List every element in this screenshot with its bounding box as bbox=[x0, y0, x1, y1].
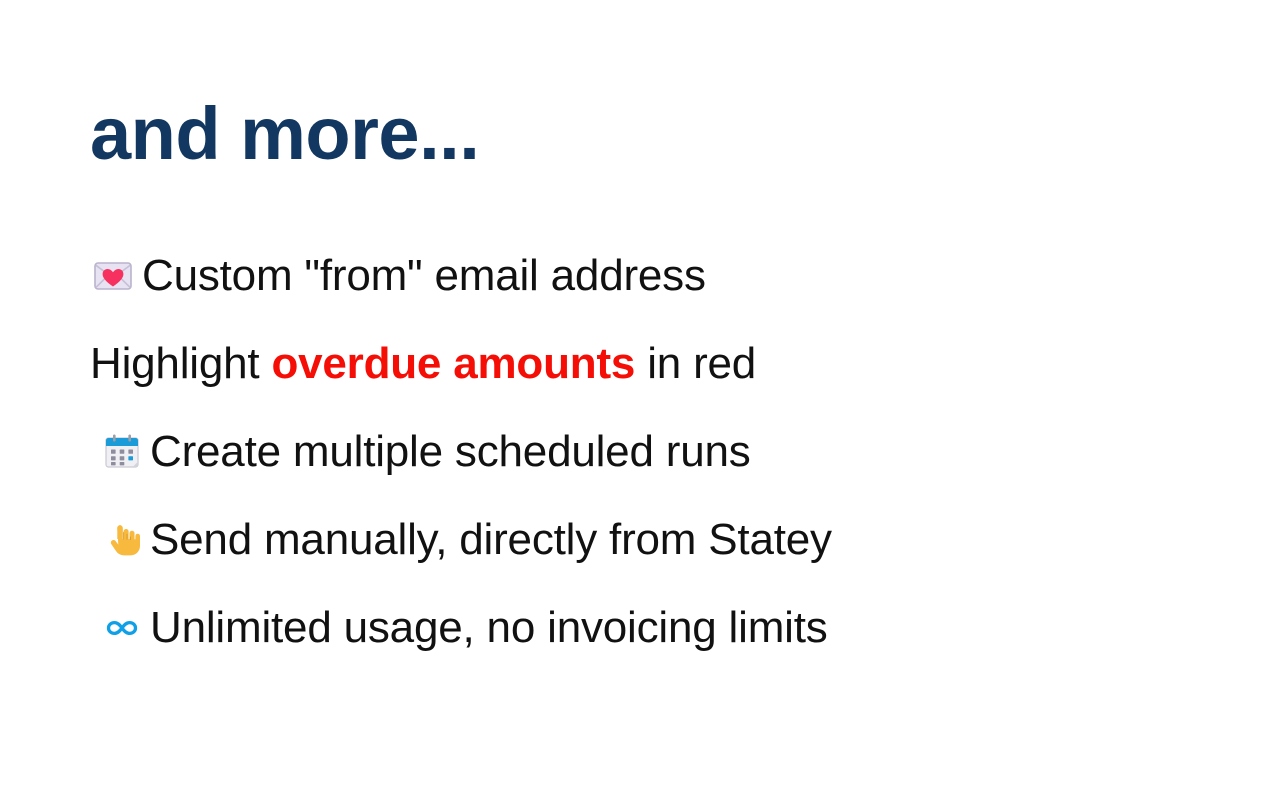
list-item-label: Create multiple scheduled runs bbox=[150, 428, 751, 476]
list-item-text: Create multiple scheduled runs bbox=[150, 427, 751, 476]
list-item-label: Unlimited usage, no invoicing limits bbox=[150, 604, 828, 652]
list-item-label: Custom "from" email address bbox=[142, 252, 706, 300]
list-item-text: Custom "from" email address bbox=[142, 251, 706, 300]
infinity-icon bbox=[98, 604, 146, 652]
list-item: Custom "from" email address bbox=[90, 232, 1190, 320]
list-item-text-after: in red bbox=[635, 339, 756, 388]
feature-bullet-list: Custom "from" email address Highlight ov… bbox=[90, 232, 1190, 672]
list-item: Create multiple scheduled runs bbox=[90, 408, 1190, 496]
slide-canvas: and more... Custom "from" email address … bbox=[0, 0, 1280, 800]
list-item-label: Send manually, directly from Statey bbox=[150, 516, 832, 564]
list-item: Highlight overdue amounts in red bbox=[90, 320, 1190, 408]
backhand-index-pointing-up-icon bbox=[98, 516, 146, 564]
list-item: Unlimited usage, no invoicing limits bbox=[90, 584, 1190, 672]
overdue-amounts-emphasis: overdue amounts bbox=[271, 339, 635, 388]
list-item-label: Highlight overdue amounts in red bbox=[90, 340, 756, 388]
list-item-text-before: Highlight bbox=[90, 339, 271, 388]
list-item-text: Send manually, directly from Statey bbox=[150, 515, 832, 564]
love-letter-icon bbox=[90, 252, 136, 300]
list-item-text: Unlimited usage, no invoicing limits bbox=[150, 603, 828, 652]
spiral-calendar-icon bbox=[98, 428, 146, 476]
list-item: Send manually, directly from Statey bbox=[90, 496, 1190, 584]
page-title: and more... bbox=[90, 97, 479, 171]
